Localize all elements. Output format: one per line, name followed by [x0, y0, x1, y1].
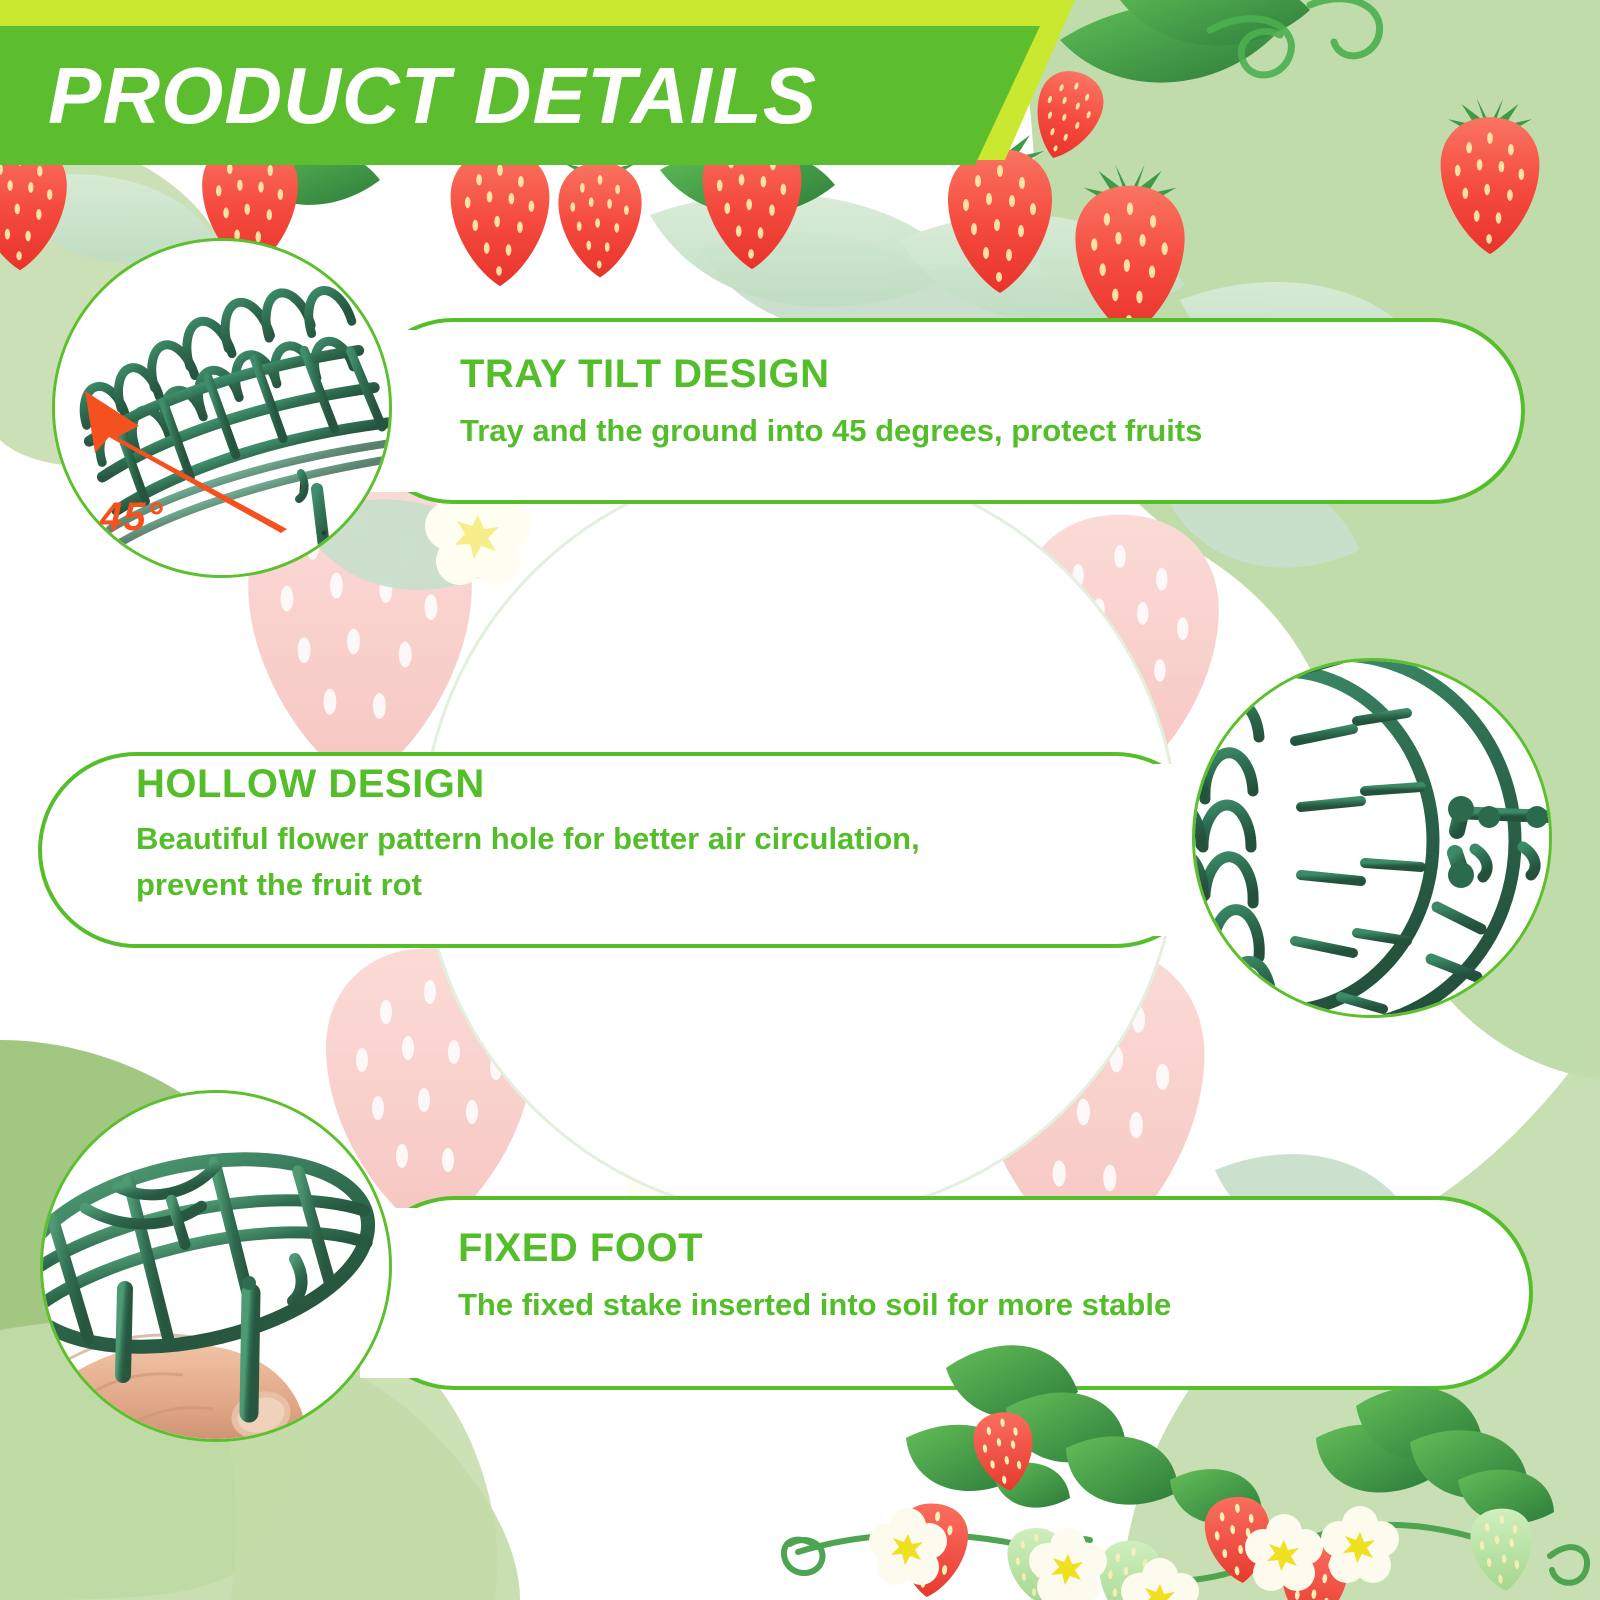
header-banner: PRODUCT DETAILS — [0, 0, 1080, 165]
feature-title: FIXED FOOT — [458, 1224, 1171, 1272]
feature-body-line1: Beautiful flower pattern hole for better… — [136, 821, 920, 856]
photo-hollow-design — [1192, 658, 1552, 1018]
feature-body-line2: prevent the fruit rot — [136, 867, 422, 902]
feature-body: The fixed stake inserted into soil for m… — [458, 1282, 1171, 1328]
feature-body: Tray and the ground into 45 degrees, pro… — [460, 408, 1202, 454]
photo-fixed-foot — [40, 1090, 392, 1442]
feature-text-hollow: HOLLOW DESIGN Beautiful flower pattern h… — [136, 760, 1146, 908]
feature-title: TRAY TILT DESIGN — [460, 350, 1202, 398]
feature-title: HOLLOW DESIGN — [136, 760, 1146, 808]
page-title: PRODUCT DETAILS — [48, 36, 817, 156]
angle-label: 45° — [100, 495, 164, 540]
feature-text-tray-tilt: TRAY TILT DESIGN Tray and the ground int… — [460, 350, 1202, 454]
feature-text-fixed-foot: FIXED FOOT The fixed stake inserted into… — [458, 1224, 1171, 1328]
infographic-canvas: PRODUCT DETAILS TRAY TILT DESIGN Tray an… — [0, 0, 1600, 1600]
bottom-strawberry-vine — [760, 1330, 1600, 1600]
